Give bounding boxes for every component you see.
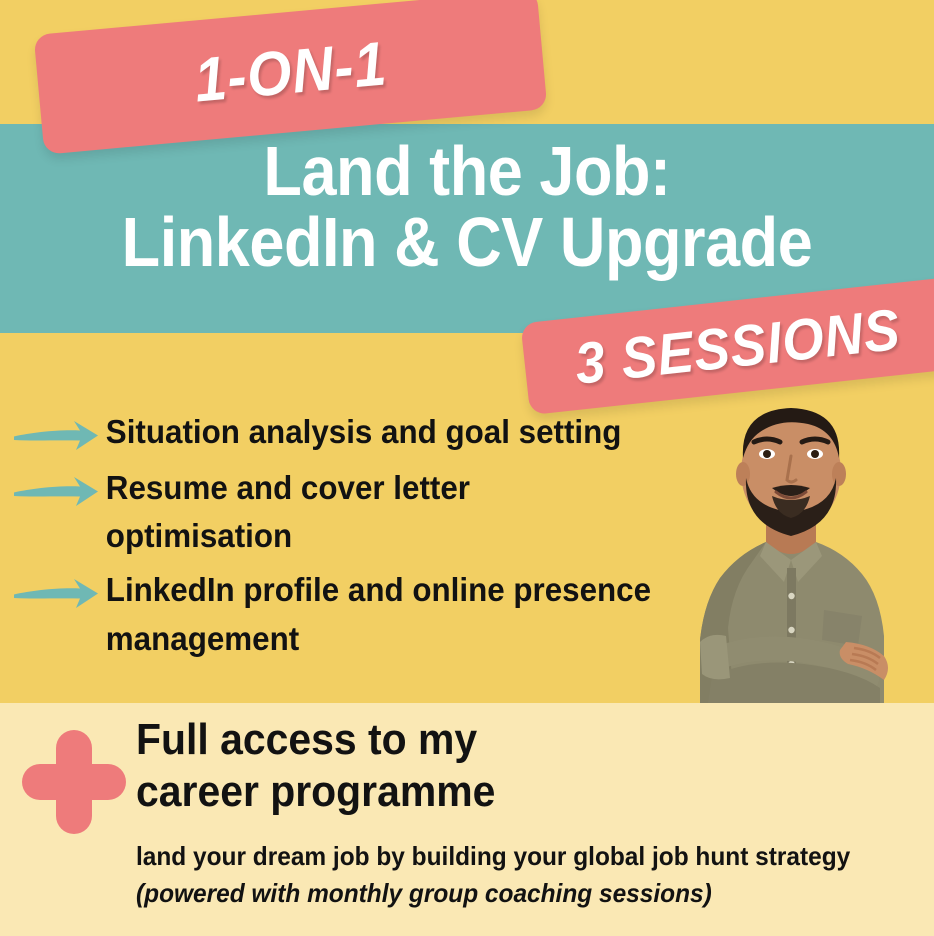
bottom-subtitle-line-1: land your dream job by building your glo…	[136, 838, 850, 875]
title-line-1: Land the Job:	[47, 136, 888, 207]
arrow-right-icon	[10, 572, 102, 616]
list-item: Resume and cover letter optimisation	[10, 464, 690, 560]
arrow-right-icon	[10, 470, 102, 514]
badge-one-on-one-label: 1-ON-1	[191, 28, 389, 116]
list-item-label: Situation analysis and goal setting	[102, 408, 621, 456]
list-item: LinkedIn profile and online presence man…	[10, 566, 690, 662]
poster-title: Land the Job: LinkedIn & CV Upgrade	[0, 136, 934, 279]
bottom-heading-line-2: career programme	[136, 766, 787, 818]
feature-list: Situation analysis and goal setting Resu…	[10, 408, 690, 669]
list-item: Situation analysis and goal setting	[10, 408, 690, 458]
coach-portrait-photo	[648, 392, 934, 703]
list-item-label: LinkedIn profile and online presence man…	[102, 566, 661, 662]
bottom-subtitle-line-2: (powered with monthly group coaching ses…	[136, 875, 850, 912]
bottom-heading-line-1: Full access to my	[136, 714, 787, 766]
promo-poster: Land the Job: LinkedIn & CV Upgrade 1-ON…	[0, 0, 934, 936]
plus-icon-horizontal-bar	[22, 764, 126, 800]
arrow-right-icon	[10, 414, 102, 458]
title-line-2: LinkedIn & CV Upgrade	[47, 207, 888, 278]
bottom-heading: Full access to my career programme	[136, 714, 836, 818]
list-item-label: Resume and cover letter optimisation	[102, 464, 661, 560]
bottom-subtitle: land your dream job by building your glo…	[136, 838, 896, 912]
plus-icon	[20, 728, 128, 836]
